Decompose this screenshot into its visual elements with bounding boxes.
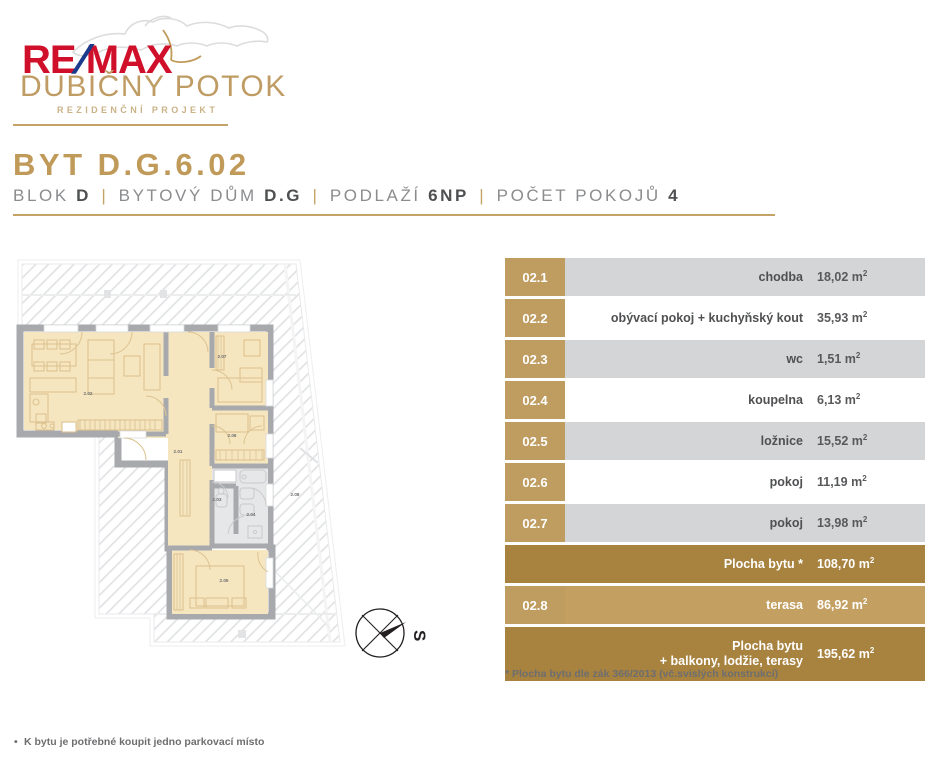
room-area-cell: 13,98 m2 (817, 515, 925, 530)
table-row: 02.4koupelna6,13 m2 (505, 381, 925, 419)
room-row-body: chodba18,02 m2 (565, 258, 925, 296)
header-divider (13, 214, 775, 216)
room-number-cell: 02.7 (505, 504, 565, 542)
room-row-body: terasa86,92 m2 (565, 586, 925, 624)
room-number-cell (505, 545, 565, 583)
table-row: 02.5ložnice15,52 m2 (505, 422, 925, 460)
room-number-cell: 02.4 (505, 381, 565, 419)
room-number-cell: 02.8 (505, 586, 565, 624)
table-row: 02.7pokoj13,98 m2 (505, 504, 925, 542)
room-area-cell: 1,51 m2 (817, 351, 925, 366)
logo-divider (13, 124, 228, 126)
room-name-cell: pokoj (565, 475, 817, 489)
room-name-cell: koupelna (565, 393, 817, 407)
room-area-cell: 11,19 m2 (817, 474, 925, 489)
room-row-body: obývací pokoj + kuchyňský kout35,93 m2 (565, 299, 925, 337)
room-number-cell: 02.3 (505, 340, 565, 378)
room-label-2-02: 2.02 (84, 391, 93, 396)
room-name-cell: ložnice (565, 434, 817, 448)
apartment-meta: BLOK D | BYTOVÝ DŮM D.G | PODLAŽÍ 6NP | … (13, 186, 680, 206)
room-number-cell: 02.5 (505, 422, 565, 460)
room-area-cell: 195,62 m2 (817, 646, 925, 661)
podlazi-value: 6NP (428, 186, 469, 205)
dum-label: BYTOVÝ DŮM (119, 186, 257, 205)
apartment-datasheet-page: RE/MAX DUBIČNY POTOK REZIDENČNÍ PROJEKT … (0, 0, 942, 768)
room-label-2-06: 2.06 (228, 433, 237, 438)
project-tagline: REZIDENČNÍ PROJEKT (57, 105, 218, 115)
blok-label: BLOK (13, 186, 69, 205)
table-row: Plocha bytu *108,70 m2 (505, 545, 925, 583)
table-row: 02.3wc1,51 m2 (505, 340, 925, 378)
room-label-2-05: 2.05 (220, 578, 229, 583)
room-row-body: pokoj13,98 m2 (565, 504, 925, 542)
room-name-cell: obývací pokoj + kuchyňský kout (565, 311, 817, 325)
room-row-body: pokoj11,19 m2 (565, 463, 925, 501)
room-area-cell: 6,13 m2 (817, 392, 925, 407)
room-row-body: Plocha bytu *108,70 m2 (565, 545, 925, 583)
room-row-body: wc1,51 m2 (565, 340, 925, 378)
room-2-06-fill (212, 410, 268, 466)
svg-text:S: S (410, 630, 429, 641)
room-name-cell: wc (565, 352, 817, 366)
room-name-cell: terasa (565, 598, 817, 612)
room-name-cell: Plocha bytu+ balkony, lodžie, terasy (565, 639, 817, 669)
blok-value: D (76, 186, 91, 205)
room-number-cell: 02.2 (505, 299, 565, 337)
pokoju-value: 4 (668, 186, 680, 205)
bullet-icon: • (14, 736, 24, 748)
room-label-2-08: 2.08 (291, 492, 300, 497)
room-label-2-03: 2.03 (213, 497, 222, 502)
table-row: 02.6pokoj11,19 m2 (505, 463, 925, 501)
brand-logo: RE/MAX DUBIČNY POTOK REZIDENČNÍ PROJEKT (12, 10, 312, 110)
meta-separator-3: | (476, 186, 489, 205)
room-row-body: koupelna6,13 m2 (565, 381, 925, 419)
table-row: 02.8terasa86,92 m2 (505, 586, 925, 624)
compass-rose-icon: S (356, 609, 429, 657)
parking-note-text: K bytu je potřebné koupit jedno parkovac… (24, 736, 264, 748)
podlazi-label: PODLAŽÍ (330, 186, 421, 205)
table-row: 02.1chodba18,02 m2 (505, 258, 925, 296)
room-area-cell: 18,02 m2 (817, 269, 925, 284)
room-label-2-04: 2.04 (247, 512, 256, 517)
table-row: 02.2obývací pokoj + kuchyňský kout35,93 … (505, 299, 925, 337)
room-label-2-07: 2.07 (218, 354, 227, 359)
room-name-cell: chodba (565, 270, 817, 284)
project-name: DUBIČNY POTOK (20, 72, 287, 102)
room-area-cell: 86,92 m2 (817, 597, 925, 612)
room-area-table: 02.1chodba18,02 m202.2obývací pokoj + ku… (505, 258, 925, 684)
page-title: BYT D.G.6.02 (13, 148, 250, 181)
pokoju-label: POČET POKOJŮ (497, 186, 661, 205)
room-name-cell: pokoj (565, 516, 817, 530)
room-area-cell: 108,70 m2 (817, 556, 925, 571)
table-footnote: * Plocha bytu dle zák 366/2013 (vč.svisl… (505, 668, 778, 680)
room-area-cell: 35,93 m2 (817, 310, 925, 325)
room-row-body: ložnice15,52 m2 (565, 422, 925, 460)
parking-note: •K bytu je potřebné koupit jedno parkova… (14, 736, 264, 748)
room-number-cell: 02.1 (505, 258, 565, 296)
room-number-cell: 02.6 (505, 463, 565, 501)
meta-separator-1: | (98, 186, 111, 205)
room-label-2-01: 2.01 (174, 449, 183, 454)
room-name-cell: Plocha bytu * (565, 557, 817, 571)
room-2-03-fill (214, 490, 236, 530)
room-area-cell: 15,52 m2 (817, 433, 925, 448)
dum-value: D.G (264, 186, 302, 205)
meta-separator-2: | (309, 186, 322, 205)
floor-plan: 2.022.072.012.062.032.042.052.08 S (0, 248, 450, 668)
